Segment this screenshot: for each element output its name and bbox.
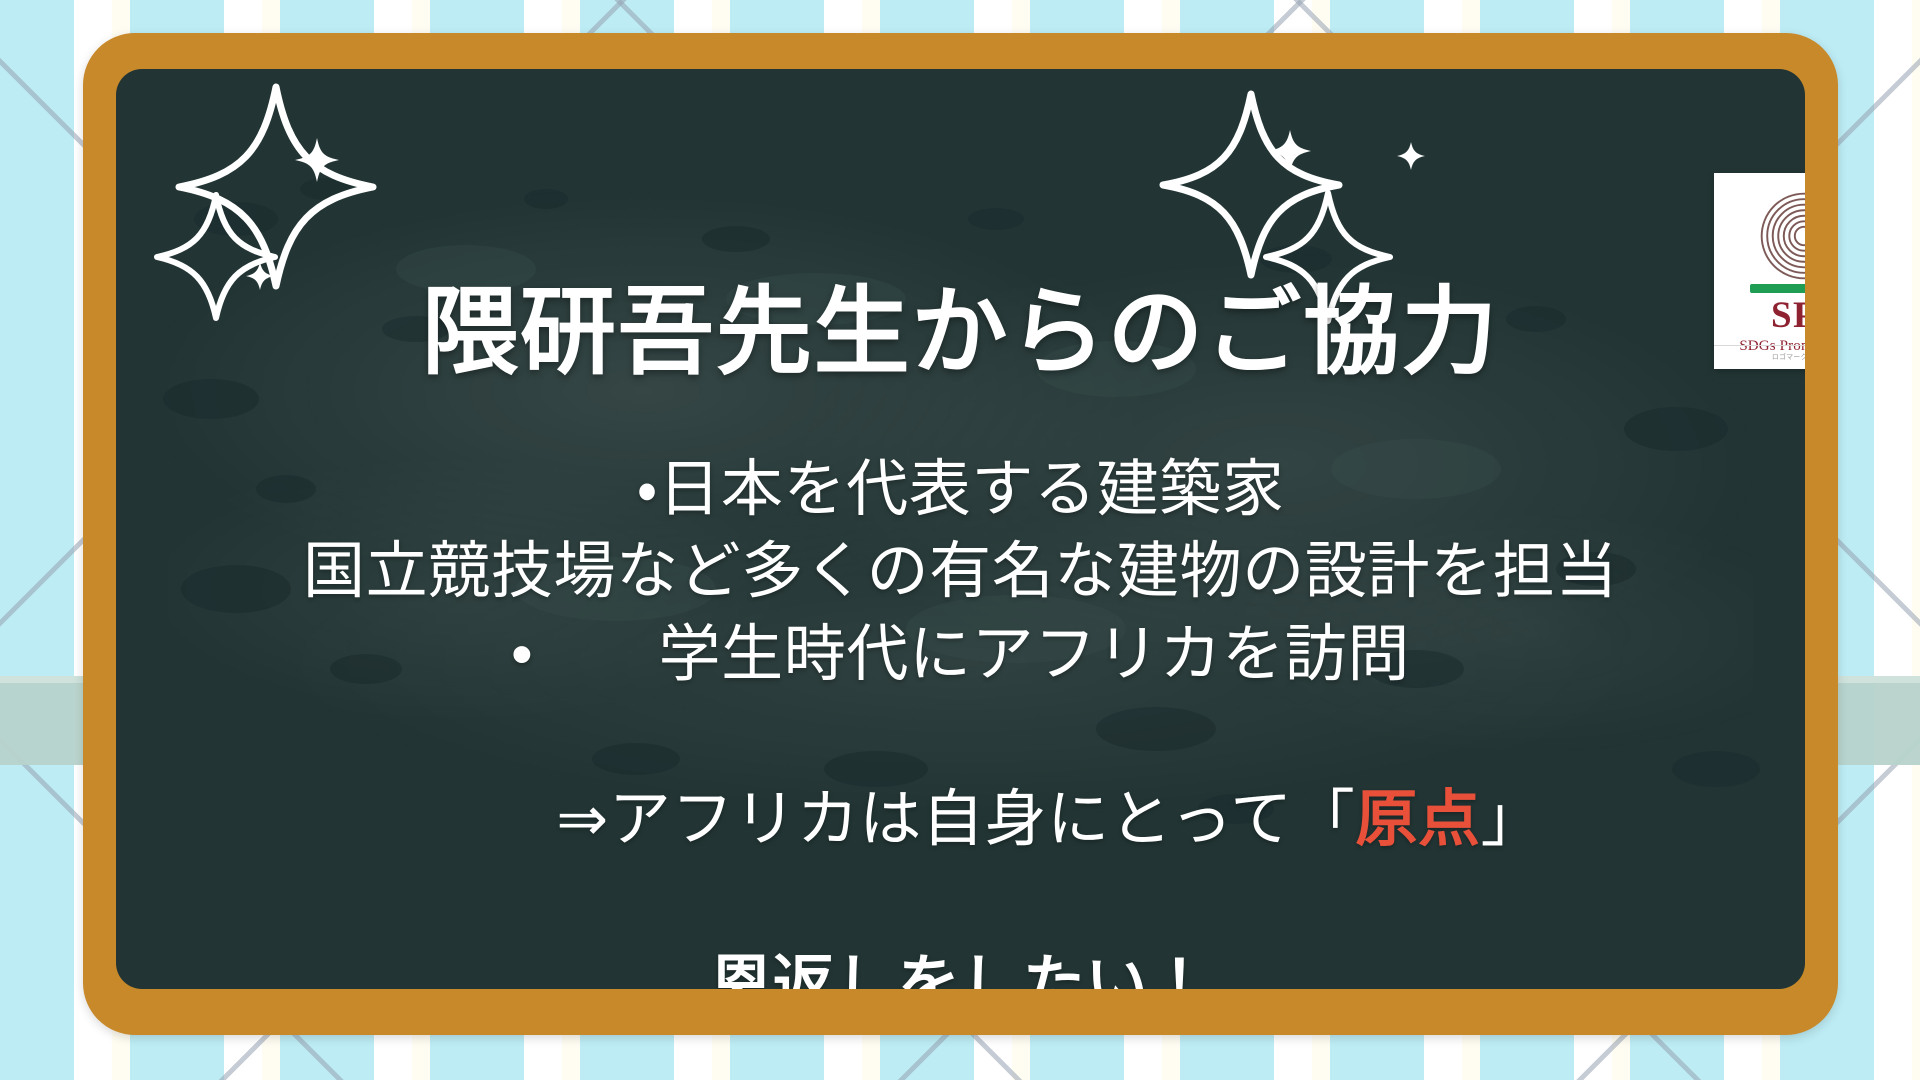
concentric-rings-icon <box>1758 190 1805 282</box>
logo-initials: SPJ <box>1771 297 1805 334</box>
body-text-block: ・日本を代表する建築家 国立競技場など多くの有名な建物の設計を担当 • 学生時代… <box>226 449 1695 989</box>
chalkboard-wooden-frame: 隈研吾先生からのご協力 ・日本を代表する建築家 国立競技場など多くの有名な建物の… <box>83 33 1838 1035</box>
spj-logo-card: SPJ SDGs Promise Japan ロゴマーク＋団体名 <box>1714 173 1805 369</box>
logo-green-bar <box>1750 284 1805 293</box>
slide-canvas: 隈研吾先生からのご協力 ・日本を代表する建築家 国立競技場など多くの有名な建物の… <box>0 0 1920 1080</box>
body-line-prefix: ⇒アフリカは自身にとって「 <box>556 785 1355 854</box>
highlight-keyword: 原点 <box>1355 785 1480 854</box>
page-title: 隈研吾先生からのご協力 <box>116 283 1805 384</box>
body-line-suffix: 」 <box>1481 785 1544 854</box>
body-line: • 学生時代にアフリカを訪問 <box>226 614 1695 696</box>
body-line: 国立競技場など多くの有名な建物の設計を担当 <box>226 531 1695 613</box>
chalkboard-surface: 隈研吾先生からのご協力 ・日本を代表する建築家 国立競技場など多くの有名な建物の… <box>116 69 1805 989</box>
logo-divider <box>1714 345 1805 346</box>
body-line: 恩返しをしたい！ <box>226 944 1695 989</box>
body-line-highlighted: ⇒アフリカは自身にとって「原点」 <box>226 696 1695 943</box>
body-line: ・日本を代表する建築家 <box>226 449 1695 531</box>
logo-caption: ロゴマーク＋団体名 <box>1714 352 1805 362</box>
